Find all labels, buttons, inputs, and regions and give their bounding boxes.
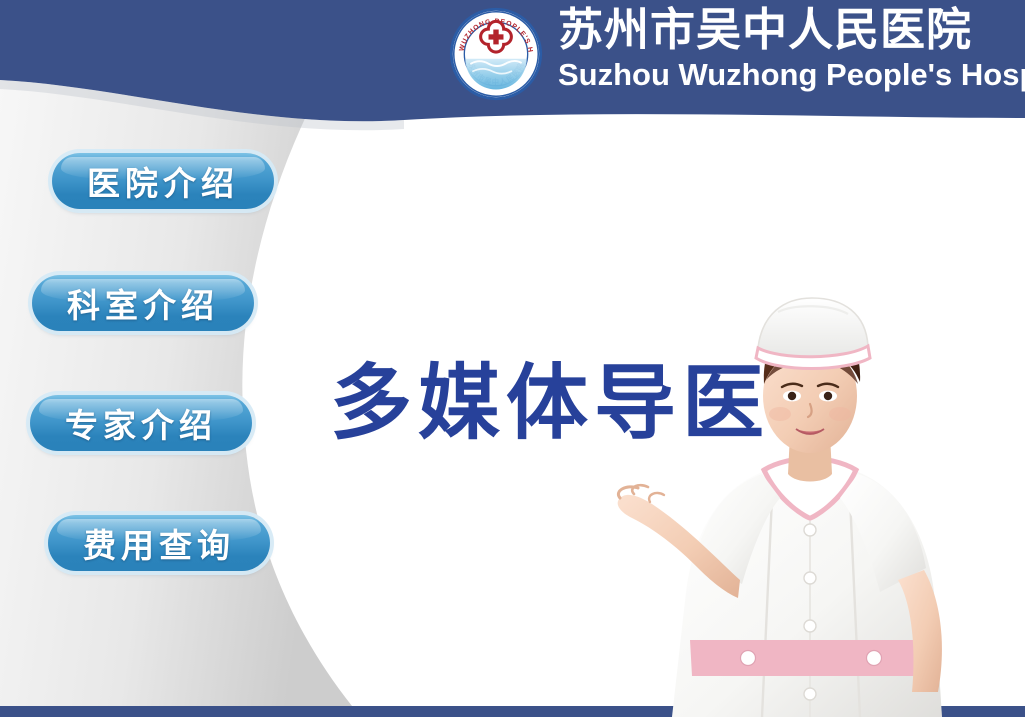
sidebar-item-label: 费用查询	[83, 519, 235, 567]
nurse-belt	[690, 640, 934, 676]
nurse-cap	[756, 298, 870, 369]
sidebar-nav: 医院介绍 科室介绍 专家介绍 费用查询	[0, 0, 300, 717]
hospital-logo: SUZHOU WUZHONG PEOPLE'S HOSPITAL 苏州市吴中人民…	[448, 6, 544, 102]
sidebar-item-label: 科室介绍	[67, 279, 219, 327]
nurse-uniform	[672, 458, 942, 717]
hospital-name-cn: 苏州市吴中人民医院	[558, 4, 1025, 56]
sidebar-item-fee-inquiry[interactable]: 费用查询	[48, 515, 270, 571]
kiosk-screen: SUZHOU WUZHONG PEOPLE'S HOSPITAL 苏州市吴中人民…	[0, 0, 1025, 717]
sidebar-item-expert-intro[interactable]: 专家介绍	[30, 395, 252, 451]
sidebar-item-department-intro[interactable]: 科室介绍	[32, 275, 254, 331]
header-titles: 苏州市吴中人民医院 Suzhou Wuzhong People's Hospit…	[558, 2, 1025, 94]
hospital-name-en: Suzhou Wuzhong People's Hospital	[558, 56, 1025, 94]
nurse-photo	[612, 292, 1022, 717]
header: SUZHOU WUZHONG PEOPLE'S HOSPITAL 苏州市吴中人民…	[448, 2, 1023, 112]
sidebar-item-hospital-intro[interactable]: 医院介绍	[52, 153, 274, 209]
sidebar-item-label: 医院介绍	[87, 157, 239, 205]
sidebar-item-label: 专家介绍	[65, 399, 217, 447]
